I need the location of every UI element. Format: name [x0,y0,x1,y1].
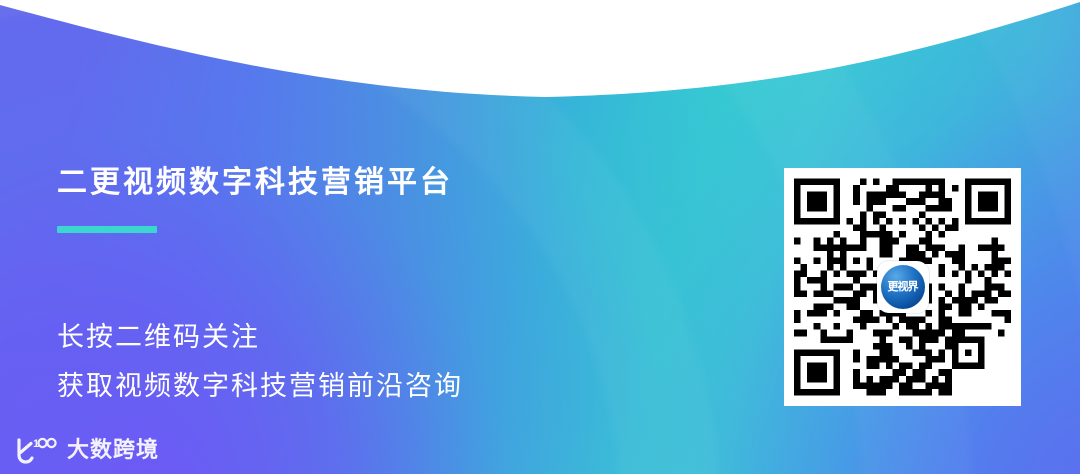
brand-watermark: 1 大数跨境 [12,435,159,465]
qr-code-holder: 更视界 [794,178,1011,396]
cta-line-2: 获取视频数字科技营销前沿咨询 [57,362,463,411]
brand-name-label: 大数跨境 [67,439,159,461]
k100-logo-icon: 1 [12,435,58,465]
qr-center-logo: 更视界 [877,261,929,313]
cta-line-1: 长按二维码关注 [57,313,463,362]
page-title: 二更视频数字科技营销平台 [57,163,453,203]
promo-banner: 二更视频数字科技营销平台 长按二维码关注 获取视频数字科技营销前沿咨询 更视界 … [0,0,1080,474]
title-accent-bar [57,226,157,233]
cta-text-block: 长按二维码关注 获取视频数字科技营销前沿咨询 [57,313,463,411]
qr-center-logo-text: 更视界 [881,265,925,309]
qr-code-panel[interactable]: 更视界 [784,168,1021,406]
